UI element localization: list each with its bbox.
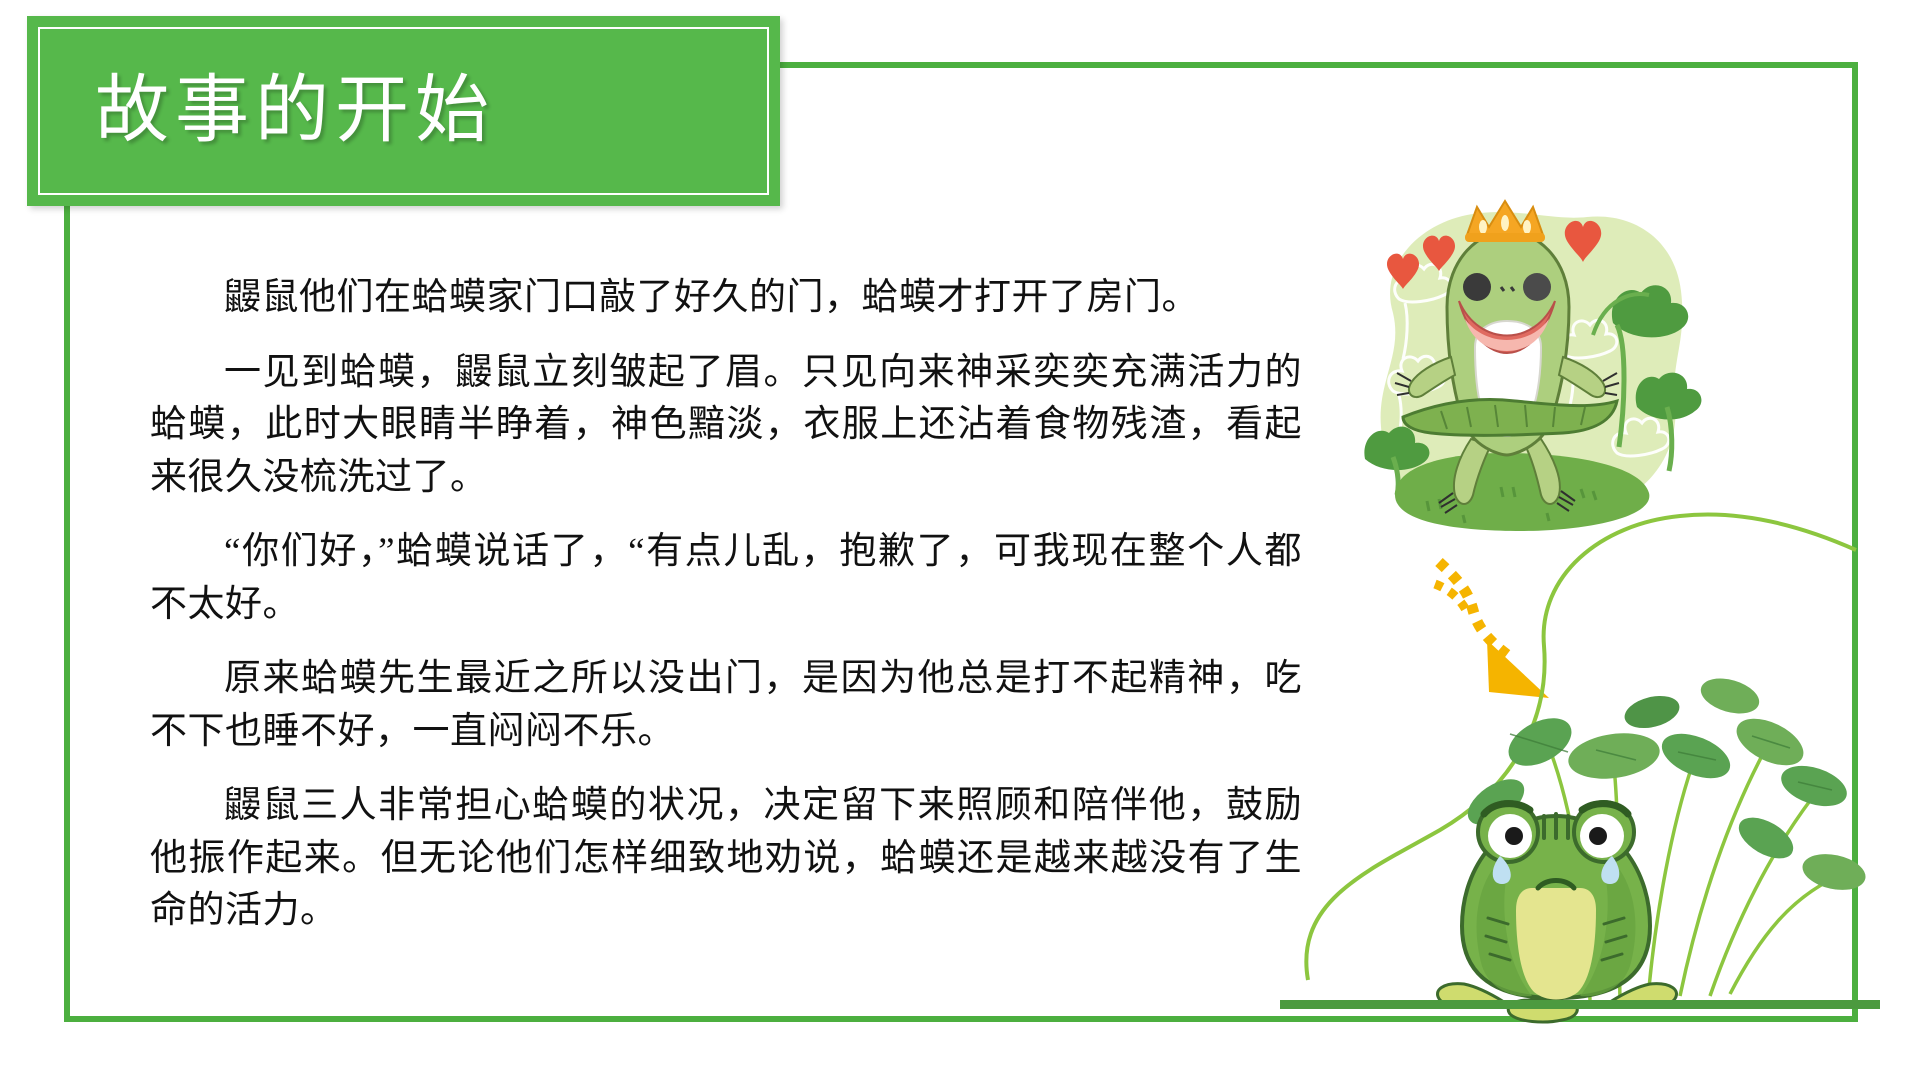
page-title: 故事的开始 — [95, 74, 495, 148]
slide-canvas: 故事的开始 鼹鼠他们在蛤蟆家门口敲了好久的门，蛤蟆才打开了房门。 一见到蛤蟆，鼹… — [0, 0, 1920, 1080]
story-text-block: 鼹鼠他们在蛤蟆家门口敲了好久的门，蛤蟆才打开了房门。 一见到蛤蟆，鼹鼠立刻皱起了… — [150, 272, 1302, 938]
paragraph: 鼹鼠他们在蛤蟆家门口敲了好久的门，蛤蟆才打开了房门。 — [150, 272, 1302, 325]
paragraph: 原来蛤蟆先生最近之所以没出门，是因为他总是打不起精神，吃不下也睡不好，一直闷闷不… — [150, 653, 1302, 758]
paragraph: 鼹鼠三人非常担心蛤蟆的状况，决定留下来照顾和陪伴他，鼓励他振作起来。但无论他们怎… — [150, 780, 1302, 938]
paragraph: 一见到蛤蟆，鼹鼠立刻皱起了眉。只见向来神采奕奕充满活力的蛤蟆，此时大眼睛半睁着，… — [150, 347, 1302, 505]
sad-frog-with-lilypads-illustration — [1300, 480, 1860, 1025]
paragraph: “你们好，”蛤蟆说话了，“有点儿乱，抱歉了，可我现在整个人都不太好。 — [150, 526, 1302, 631]
title-plate: 故事的开始 — [27, 16, 780, 206]
